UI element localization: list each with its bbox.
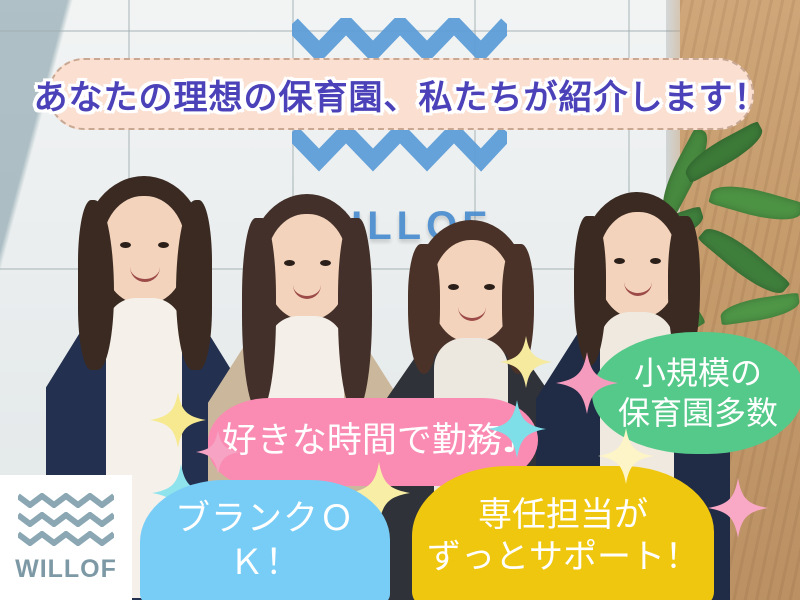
- hair-side: [408, 244, 440, 374]
- callout-pink-text: 好きな時間で勤務♪: [222, 420, 524, 464]
- promo-banner-image: WILLOF: [0, 0, 800, 600]
- hair-side: [176, 200, 212, 370]
- sparkle-pink-center-icon: [556, 352, 618, 414]
- sparkle-pink-bottom-right-icon: [708, 478, 768, 538]
- headline-text: あなたの理想の保育園、私たちが紹介します！: [34, 70, 769, 119]
- face: [266, 214, 348, 320]
- face: [598, 212, 678, 318]
- hair-side: [242, 218, 276, 413]
- hair-side: [338, 218, 372, 413]
- willof-wordmark: WILLOF: [15, 555, 117, 584]
- sparkle-white-yellowblob-icon: [598, 428, 654, 484]
- eye: [484, 284, 495, 290]
- callout-bubble-yellow[interactable]: 専任担当が ずっとサポート！: [412, 466, 714, 600]
- hair-side: [574, 216, 606, 366]
- willof-logo-card: WILLOF: [0, 475, 132, 600]
- headline-banner: あなたの理想の保育園、私たちが紹介します！: [48, 58, 754, 130]
- zigzag-icon: [292, 126, 507, 172]
- face: [102, 196, 186, 304]
- sparkle-pink-left-icon: [196, 430, 240, 474]
- zigzag-icon: [18, 531, 114, 546]
- eye: [448, 284, 459, 290]
- eye: [650, 258, 661, 264]
- eye: [120, 242, 131, 248]
- sparkle-cyan-center-icon: [488, 400, 546, 458]
- eye: [320, 260, 331, 266]
- face: [432, 240, 512, 342]
- eye: [614, 258, 625, 264]
- sparkle-yellow-center-icon: [500, 336, 552, 388]
- zigzag-icon: [18, 493, 114, 508]
- eye: [284, 260, 295, 266]
- callout-green-text: 小規模の 保育園多数: [618, 353, 778, 433]
- callout-bubble-blue[interactable]: ブランクＯＫ！: [140, 480, 390, 600]
- callout-yellow-text: 専任担当が ずっとサポート！: [427, 494, 699, 579]
- zigzag-icon: [18, 512, 114, 527]
- callout-blue-text: ブランクＯＫ！: [140, 498, 390, 586]
- eye: [158, 242, 169, 248]
